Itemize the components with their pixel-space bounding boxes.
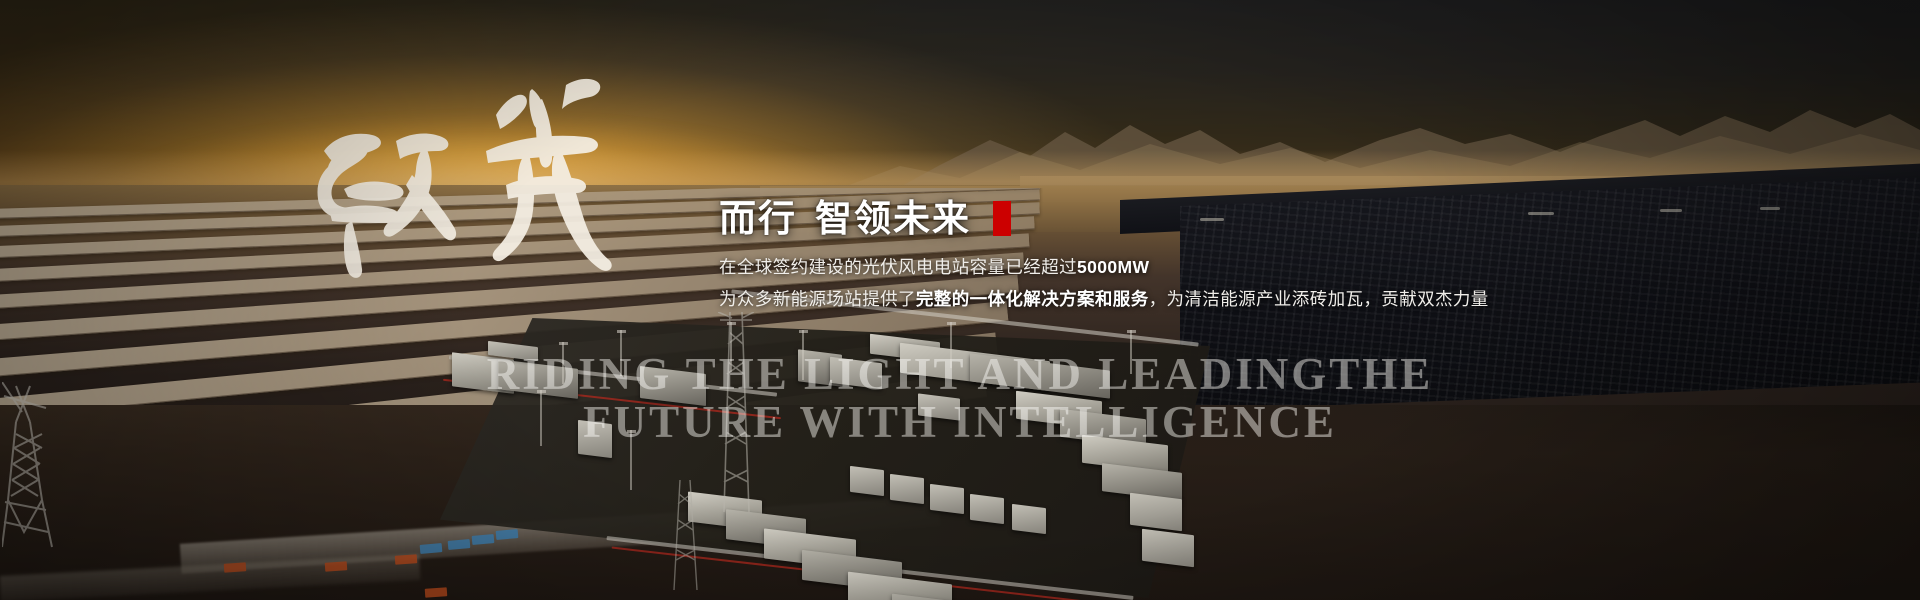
subtitle-line-1: 在全球签约建设的光伏风电电站容量已经超过5000MW — [719, 254, 1619, 279]
headline-part-1: 而行 — [719, 200, 797, 237]
battery-cabinet — [850, 466, 884, 496]
subtitle-line-2: 为众多新能源场站提供了完整的一体化解决方案和服务，为清洁能源产业添砖加瓦，贡献双… — [719, 286, 1619, 311]
battery-cabinet — [930, 484, 964, 514]
hero-copy: 而行 智领未来 在全球签约建设的光伏风电电站容量已经超过5000MW 为众多新能… — [719, 200, 1619, 311]
subtitle-2-lead: 为众多新能源场站提供了 — [719, 289, 916, 309]
lattice-pylon-icon — [670, 480, 700, 590]
survey-flag-icon — [224, 562, 247, 573]
battery-cabinet — [1130, 493, 1182, 531]
page-title: 而行 智领未来 — [719, 200, 1619, 237]
subtitle-2-tail: ，为清洁能源产业添砖加瓦，贡献双杰力量 — [1149, 289, 1489, 309]
battery-cabinet — [1012, 504, 1046, 534]
battery-storage-substation — [430, 300, 1230, 600]
red-accent-block — [993, 201, 1011, 236]
subtitle-2-emphasis: 完整的一体化解决方案和服务 — [916, 289, 1149, 309]
panel-glint — [1660, 209, 1682, 212]
subtitle-1-text: 在全球签约建设的光伏风电电站容量已经超过 — [719, 257, 1077, 277]
survey-flag-icon — [325, 561, 348, 572]
english-tagline-line-1: RIDING THE LIGHT AND LEADINGTHE — [0, 348, 1920, 400]
battery-cabinet — [890, 474, 924, 504]
battery-cabinet — [970, 494, 1004, 524]
panel-glint — [1760, 207, 1780, 210]
headline-part-2: 智领未来 — [815, 200, 971, 237]
hero-banner: 而行 智领未来 在全球签约建设的光伏风电电站容量已经超过5000MW 为众多新能… — [0, 0, 1920, 600]
subtitle-1-capacity: 5000MW — [1077, 257, 1149, 277]
survey-flag-icon — [395, 554, 418, 565]
english-tagline-line-2: FUTURE WITH INTELLIGENCE — [0, 396, 1920, 448]
battery-cabinet — [1142, 529, 1194, 567]
